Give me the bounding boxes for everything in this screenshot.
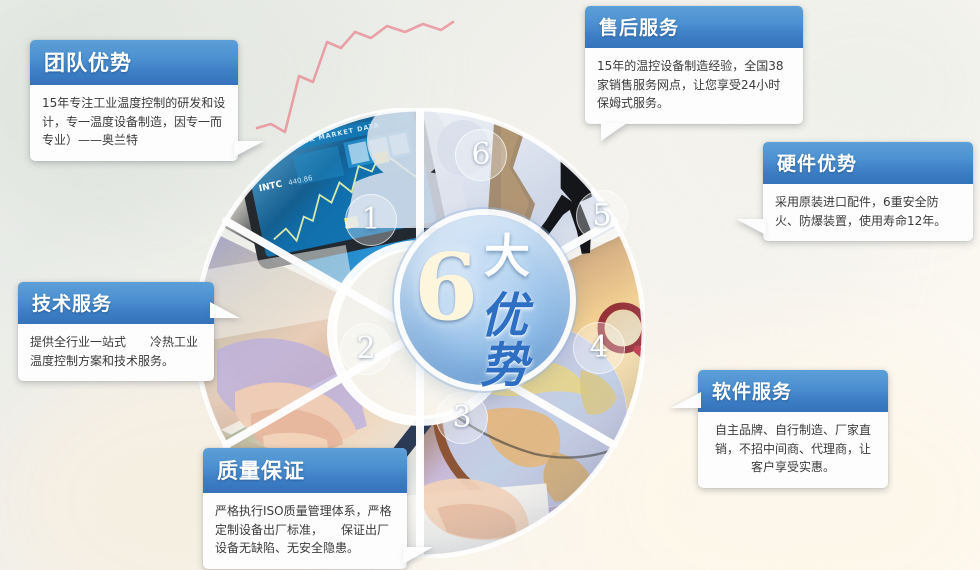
segment-badge-3[interactable]: 3 [436,392,488,444]
card-body-team: 15年专注工业温度控制的研发和设计，专一温度设备制造，因专一而专业）——奥兰特 [30,85,238,161]
card-title-after-sales: 售后服务 [585,6,803,48]
callout-card-quality[interactable]: 质量保证 严格执行ISO质量管理体系，严格定制设备出厂标准， 保证出厂设备无缺陷… [203,448,407,569]
callout-tail [210,302,240,318]
callout-card-technical[interactable]: 技术服务 提供全行业一站式 冷热工业温度控制方案和技术服务。 [18,282,214,381]
segment-badge-5[interactable]: 5 [576,190,628,242]
card-body-quality: 严格执行ISO质量管理体系，严格定制设备出厂标准， 保证出厂设备无缺陷、无安全隐… [203,493,407,569]
segment-badge-1[interactable]: 1 [345,194,397,246]
card-title-hardware: 硬件优势 [763,142,973,184]
card-title-team: 团队优势 [30,40,238,85]
callout-tail [234,141,264,157]
card-title-technical: 技术服务 [18,282,214,324]
callout-tail [736,219,766,235]
center-logo-text: 6 大 优势 [400,215,570,385]
card-body-software: 自主品牌、自行制造、厂家直销，不招中间商、代理商，让客户享受实惠。 [698,412,888,488]
segment-badge-2[interactable]: 2 [340,323,392,375]
callout-card-after-sales[interactable]: 售后服务 15年的温控设备制造经验，全国38家销售服务网点，让您享受24小时保姆… [585,6,803,124]
segment-badge-6[interactable]: 6 [455,129,507,181]
callout-card-software[interactable]: 软件服务 自主品牌、自行制造、厂家直销，不招中间商、代理商，让客户享受实惠。 [698,370,888,488]
card-body-hardware: 采用原装进口配件，6重安全防火、防爆装置，使用寿命12年。 [763,184,973,241]
callout-tail [601,123,627,141]
center-word: 优势 [480,291,570,391]
card-title-software: 软件服务 [698,370,888,412]
card-body-after-sales: 15年的温控设备制造经验，全国38家销售服务网点，让您享受24小时保姆式服务。 [585,48,803,124]
card-body-technical: 提供全行业一站式 冷热工业温度控制方案和技术服务。 [18,324,214,381]
callout-tail [671,392,701,408]
callout-card-hardware[interactable]: 硬件优势 采用原装进口配件，6重安全防火、防爆装置，使用寿命12年。 [763,142,973,241]
center-number: 6 [414,241,478,333]
segment-badge-4[interactable]: 4 [573,322,625,374]
card-title-quality: 质量保证 [203,448,407,493]
center-logo-badge: 6 大 优势 [400,215,570,385]
center-big-char: 大 [484,233,530,279]
callout-tail [403,547,433,564]
callout-card-team[interactable]: 团队优势 15年专注工业温度控制的研发和设计，专一温度设备制造，因专一而专业）—… [30,40,238,161]
